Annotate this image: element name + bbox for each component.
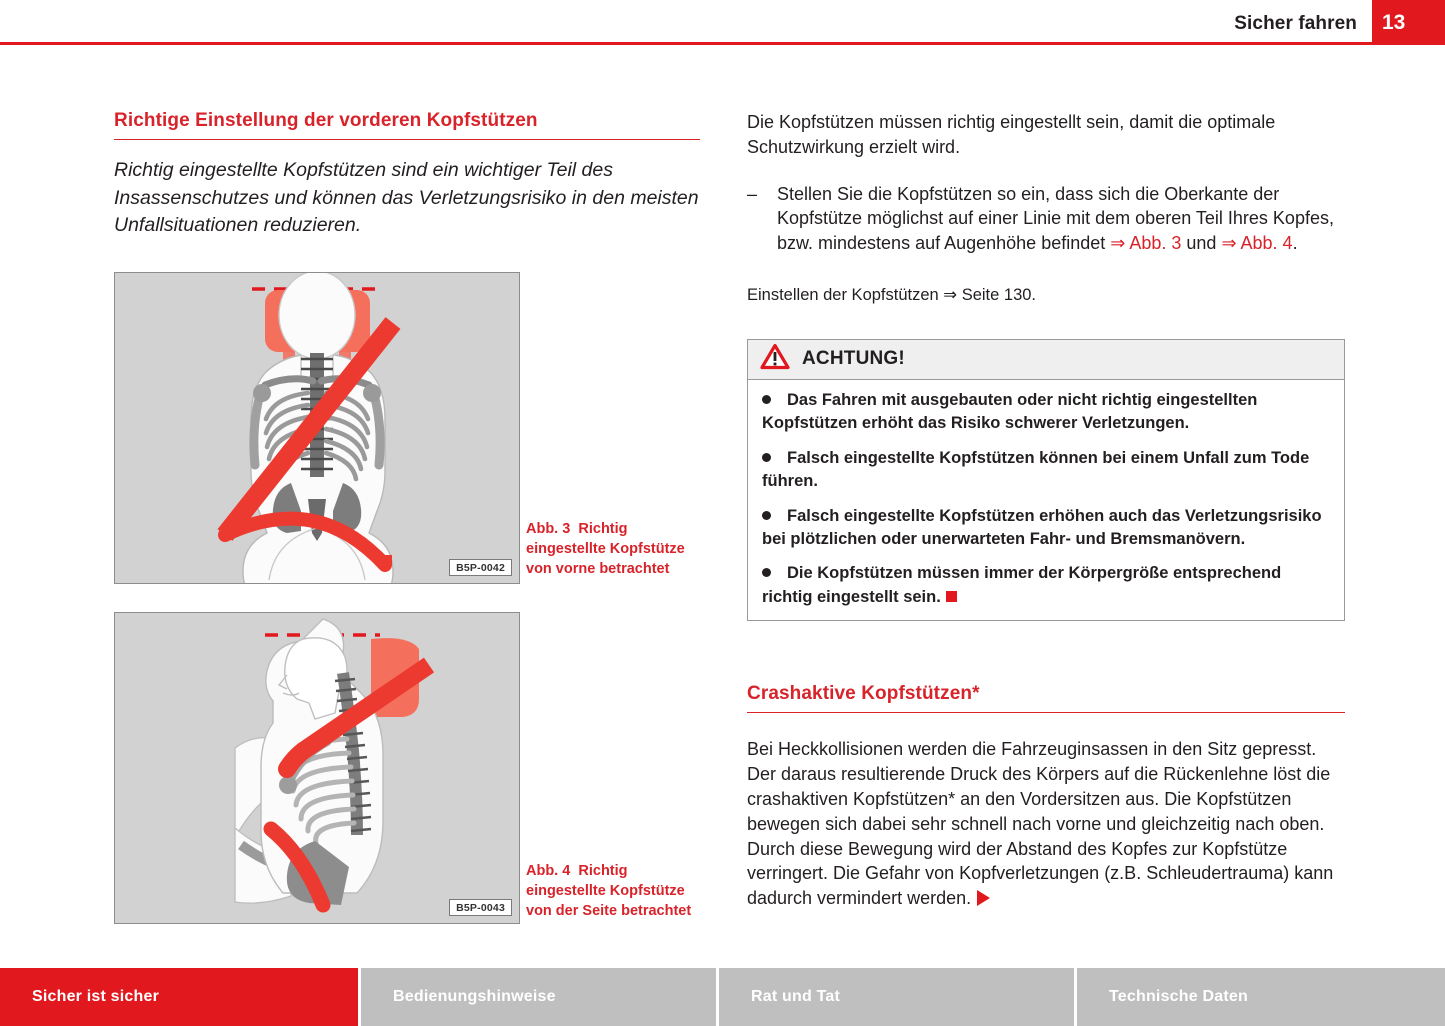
footer-tab-bar: Sicher ist sicher Bedienungshinweise Rat… xyxy=(0,968,1445,1026)
figure-4-code: B5P-0043 xyxy=(449,899,512,916)
section-crashaktive-body: Bei Heckkollisionen werden die Fahrzeugi… xyxy=(747,737,1345,911)
end-of-section-marker xyxy=(946,591,957,602)
footer-tab-rat-und-tat[interactable]: Rat und Tat xyxy=(716,968,1074,1026)
warning-title: ACHTUNG! xyxy=(802,348,905,370)
section-crashaktive: Crashaktive Kopfstützen* Bei Heckkollisi… xyxy=(747,683,1345,911)
warning-item: Falsch eingestellte Kopfstützen erhöhen … xyxy=(762,505,1330,552)
left-column: Richtige Einstellung der vorderen Kopfst… xyxy=(114,110,700,240)
continuation-arrow-icon xyxy=(977,890,990,906)
instruction-text: Stellen Sie die Kopfstützen so ein, dass… xyxy=(777,182,1345,256)
warning-box-header: ACHTUNG! xyxy=(748,340,1344,380)
figure-reference-3[interactable]: ⇒ Abb. 3 xyxy=(1110,233,1181,253)
figure-4-caption: Abb. 4 Richtig eingestellte Kopfstütze v… xyxy=(526,861,704,921)
section-lead-paragraph: Richtig eingestellte Kopfstützen sind ei… xyxy=(114,157,700,240)
warning-item: Die Kopfstützen müssen immer der Körperg… xyxy=(762,562,1330,609)
page-number-block: 13 xyxy=(1372,0,1445,44)
bullet-icon xyxy=(762,395,771,404)
section-heading-kopfstuetzen: Richtige Einstellung der vorderen Kopfst… xyxy=(114,110,700,140)
warning-item-text: Das Fahren mit ausgebauten oder nicht ri… xyxy=(762,391,1257,432)
page-number: 13 xyxy=(1382,11,1405,35)
figure-4-container: B5P-0043 xyxy=(114,612,520,924)
figure-3-caption: Abb. 3 Richtig eingestellte Kopfstütze v… xyxy=(526,519,704,579)
side-view-skeleton-headrest-illustration xyxy=(115,613,519,923)
header-chapter-title: Sicher fahren xyxy=(1234,13,1357,35)
front-view-skeleton-headrest-illustration xyxy=(115,273,519,583)
figure-3-code: B5P-0042 xyxy=(449,559,512,576)
warning-item: Das Fahren mit ausgebauten oder nicht ri… xyxy=(762,389,1330,436)
bullet-icon xyxy=(762,453,771,462)
footer-tab-technische-daten[interactable]: Technische Daten xyxy=(1074,968,1445,1026)
warning-box: ACHTUNG! Das Fahren mit ausgebauten oder… xyxy=(747,339,1345,621)
warning-item-text: Die Kopfstützen müssen immer der Körperg… xyxy=(762,564,1281,605)
warning-item-text: Falsch eingestellte Kopfstützen erhöhen … xyxy=(762,507,1322,548)
cross-reference-note[interactable]: Einstellen der Kopfstützen ⇒ Seite 130. xyxy=(747,284,1345,307)
right-column: Die Kopfstützen müssen richtig eingestel… xyxy=(747,110,1345,911)
figure-3-caption-label: Abb. 3 xyxy=(526,521,570,537)
figure-4-image: B5P-0043 xyxy=(114,612,520,924)
header-divider-rule xyxy=(0,42,1445,45)
instruction-list-item: – Stellen Sie die Kopfstützen so ein, da… xyxy=(747,182,1345,256)
figure-reference-4[interactable]: ⇒ Abb. 4 xyxy=(1221,233,1292,253)
page-header: Sicher fahren 13 xyxy=(0,0,1445,46)
footer-tab-sicher-ist-sicher[interactable]: Sicher ist sicher xyxy=(0,968,358,1026)
section-heading-crashaktive: Crashaktive Kopfstützen* xyxy=(747,683,1345,713)
intro-paragraph: Die Kopfstützen müssen richtig eingestel… xyxy=(747,110,1345,160)
bullet-icon xyxy=(762,568,771,577)
warning-item-text: Falsch eingestellte Kopfstützen können b… xyxy=(762,449,1309,490)
instruction-text-after: . xyxy=(1293,233,1298,253)
bullet-icon xyxy=(762,511,771,520)
instruction-text-mid: und xyxy=(1181,233,1221,253)
warning-triangle-icon xyxy=(760,343,790,375)
figure-3-container: B5P-0042 xyxy=(114,272,520,584)
warning-box-body: Das Fahren mit ausgebauten oder nicht ri… xyxy=(748,380,1344,620)
figure-4-caption-label: Abb. 4 xyxy=(526,863,570,879)
warning-item: Falsch eingestellte Kopfstützen können b… xyxy=(762,447,1330,494)
dash-marker: – xyxy=(747,182,777,256)
figure-3-image: B5P-0042 xyxy=(114,272,520,584)
section-crashaktive-text: Bei Heckkollisionen werden die Fahrzeugi… xyxy=(747,739,1333,908)
footer-tab-bedienungshinweise[interactable]: Bedienungshinweise xyxy=(358,968,716,1026)
